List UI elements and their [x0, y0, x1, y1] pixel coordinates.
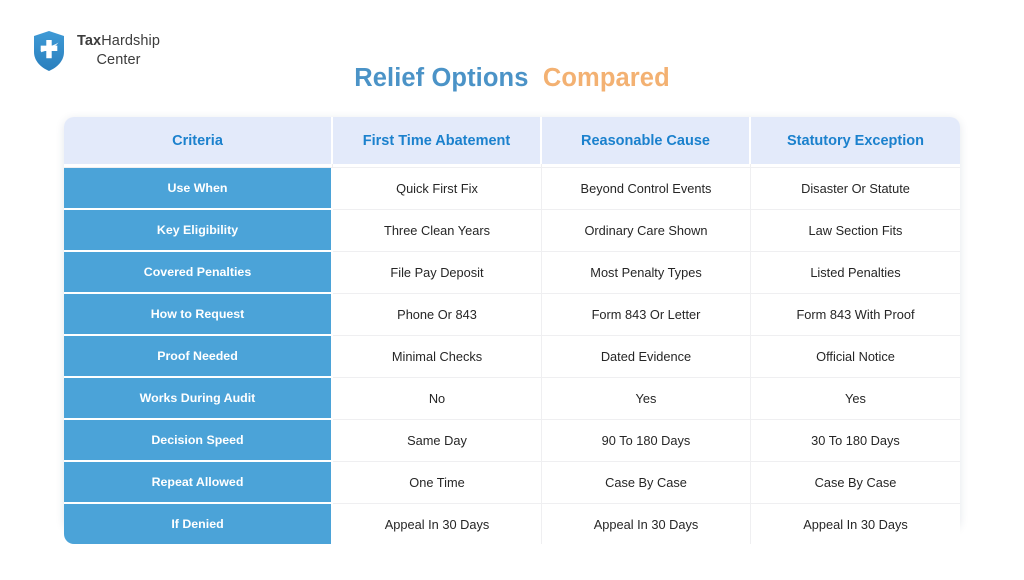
page-title-main: Relief Options	[354, 64, 528, 92]
criteria-label: Decision Speed	[64, 420, 333, 462]
criteria-label: Proof Needed	[64, 336, 333, 378]
brand-name-rest: Hardship	[101, 33, 160, 49]
table-cell: Minimal Checks	[333, 336, 542, 378]
column-header-statutory-exception: Statutory Exception	[751, 117, 960, 164]
table-row: Use When Quick First Fix Beyond Control …	[64, 168, 960, 210]
criteria-label: Key Eligibility	[64, 210, 333, 252]
table-row: Decision Speed Same Day 90 To 180 Days 3…	[64, 420, 960, 462]
criteria-label: How to Request	[64, 294, 333, 336]
criteria-label: Repeat Allowed	[64, 462, 333, 504]
comparison-table: Criteria First Time Abatement Reasonable…	[64, 117, 960, 544]
table-cell: Case By Case	[542, 462, 751, 504]
table-row: Works During Audit No Yes Yes	[64, 378, 960, 420]
table-cell: Law Section Fits	[751, 210, 960, 252]
table-body: Use When Quick First Fix Beyond Control …	[64, 164, 960, 544]
page-title-accent: Compared	[543, 64, 670, 92]
table-row: How to Request Phone Or 843 Form 843 Or …	[64, 294, 960, 336]
table-cell: Form 843 Or Letter	[542, 294, 751, 336]
column-header-criteria: Criteria	[64, 117, 333, 164]
table-cell: 90 To 180 Days	[542, 420, 751, 462]
table-row: Key Eligibility Three Clean Years Ordina…	[64, 210, 960, 252]
table-cell: Most Penalty Types	[542, 252, 751, 294]
table-cell: Yes	[542, 378, 751, 420]
table-row: Covered Penalties File Pay Deposit Most …	[64, 252, 960, 294]
brand-name-bold: Tax	[77, 33, 101, 49]
criteria-label: Use When	[64, 168, 333, 210]
table-cell: Official Notice	[751, 336, 960, 378]
table-cell: Appeal In 30 Days	[542, 504, 751, 544]
table-cell: Beyond Control Events	[542, 168, 751, 210]
table-cell: Phone Or 843	[333, 294, 542, 336]
table-cell: Case By Case	[751, 462, 960, 504]
table-header: Criteria First Time Abatement Reasonable…	[64, 117, 960, 164]
table-cell: One Time	[333, 462, 542, 504]
table-row: Proof Needed Minimal Checks Dated Eviden…	[64, 336, 960, 378]
table-row: Repeat Allowed One Time Case By Case Cas…	[64, 462, 960, 504]
column-header-reasonable-cause: Reasonable Cause	[542, 117, 751, 164]
criteria-label: Covered Penalties	[64, 252, 333, 294]
criteria-label: If Denied	[64, 504, 333, 544]
table-cell: Form 843 With Proof	[751, 294, 960, 336]
table-cell: Listed Penalties	[751, 252, 960, 294]
criteria-label: Works During Audit	[64, 378, 333, 420]
table-cell: Same Day	[333, 420, 542, 462]
column-header-first-time-abatement: First Time Abatement	[333, 117, 542, 164]
table-cell: Yes	[751, 378, 960, 420]
table-cell: Disaster Or Statute	[751, 168, 960, 210]
table-row: If Denied Appeal In 30 Days Appeal In 30…	[64, 504, 960, 544]
table-cell: File Pay Deposit	[333, 252, 542, 294]
table-cell: Dated Evidence	[542, 336, 751, 378]
table-cell: Appeal In 30 Days	[751, 504, 960, 544]
page-title: Relief Options Compared	[0, 64, 1024, 93]
table-cell: Three Clean Years	[333, 210, 542, 252]
comparison-table-container: Criteria First Time Abatement Reasonable…	[64, 117, 960, 544]
table-header-row: Criteria First Time Abatement Reasonable…	[64, 117, 960, 164]
table-cell: Quick First Fix	[333, 168, 542, 210]
table-cell: Appeal In 30 Days	[333, 504, 542, 544]
table-cell: 30 To 180 Days	[751, 420, 960, 462]
table-cell: No	[333, 378, 542, 420]
table-cell: Ordinary Care Shown	[542, 210, 751, 252]
